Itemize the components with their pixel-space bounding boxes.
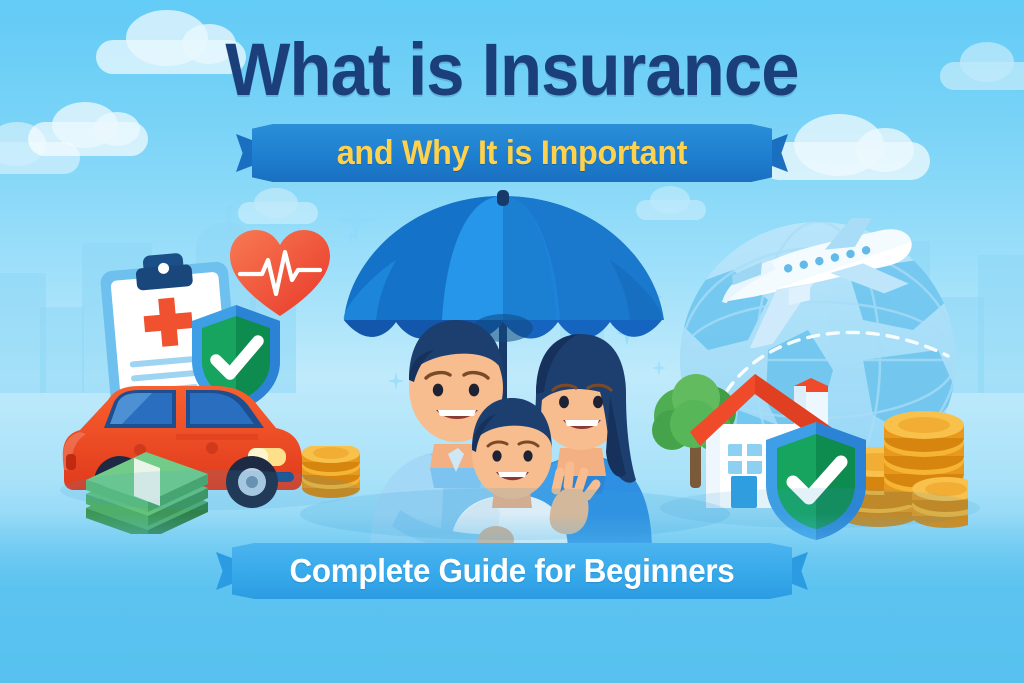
bottom-ribbon: Complete Guide for Beginners xyxy=(232,543,792,599)
insurance-banner: What is Insurance and Why It is Importan… xyxy=(0,0,1024,683)
page-title: What is Insurance xyxy=(36,30,988,110)
subtitle-ribbon: and Why It is Important xyxy=(252,124,772,182)
ground-shadow xyxy=(300,488,730,540)
bottom-caption: Complete Guide for Beginners xyxy=(246,543,778,599)
ground-shadow-left xyxy=(60,470,360,510)
airplane-icon xyxy=(684,218,934,348)
page-subtitle: and Why It is Important xyxy=(265,124,759,182)
ground-shadow-right xyxy=(660,488,980,528)
